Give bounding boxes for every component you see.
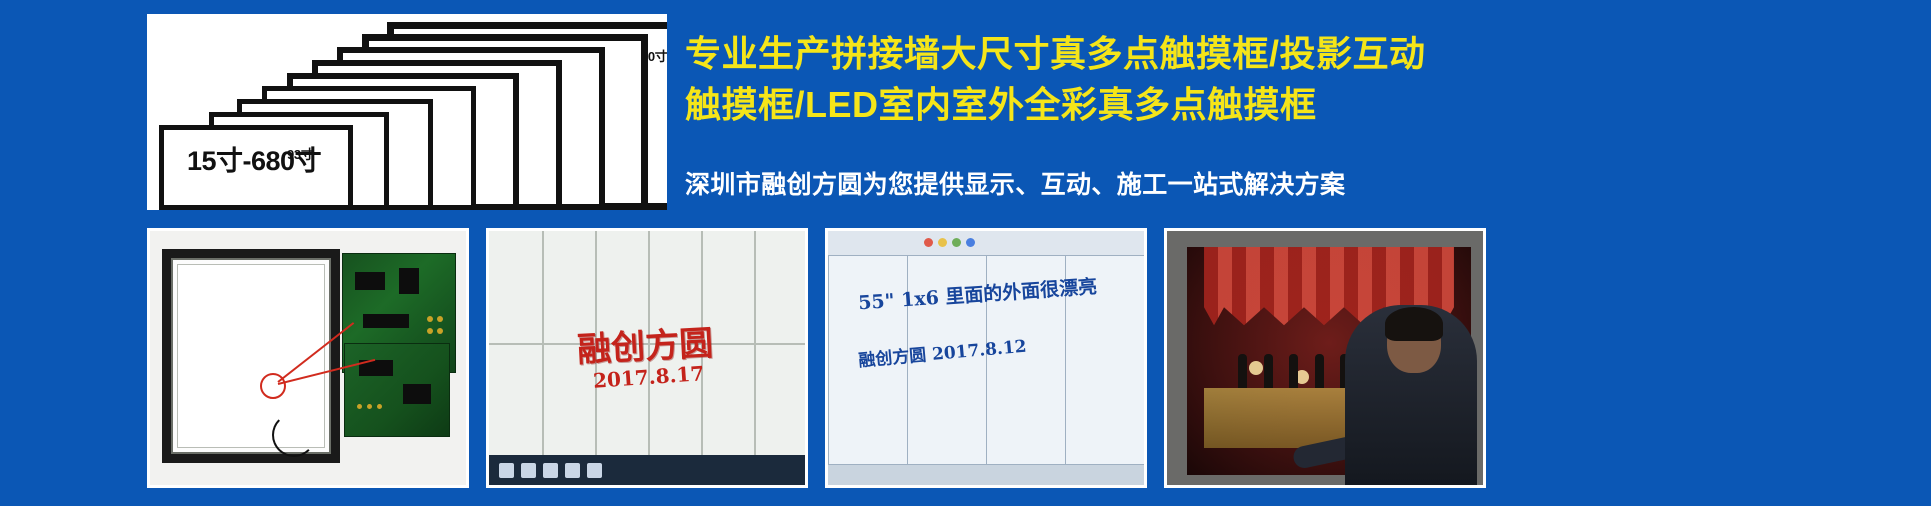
pcb-solder-pad [357,404,362,409]
pcb-solder-pad [427,316,433,322]
stage-figure [1264,354,1273,388]
screen-stack: 680寸 575寸 305寸 221寸 185寸 153寸 129寸 110寸 … [147,14,667,210]
headline-line-2: 触摸框/LED室内室外全彩真多点触摸框 [685,79,1885,130]
taskbar-icon [521,463,536,478]
pcb-chip [403,384,431,404]
photo-lcd-wall-blue-writing: 55" 1x6 里面的外面很漂亮 融创方圆 2017.8.12 [825,228,1147,488]
size-range-label: 15寸-680寸 [187,139,321,178]
size-comparison-chart: 680寸 575寸 305寸 221寸 185寸 153寸 129寸 110寸 … [147,14,667,210]
toolbar-dot-green [952,238,961,247]
taskbar-icon [499,463,514,478]
photo-strip: 融创方圆 2017.8.17 55" 1x6 里面的外面 [147,228,1867,488]
pcb-solder-pad [427,328,433,334]
pcb-solder-pad [367,404,372,409]
marketing-copy: 专业生产拼接墙大尺寸真多点触摸框/投影互动 触摸框/LED室内室外全彩真多点触摸… [685,28,1885,202]
pcb-solder-pad [437,328,443,334]
subheadline: 深圳市融创方圆为您提供显示、互动、施工一站式解决方案 [685,168,1885,202]
photo-video-wall-handwriting: 融创方圆 2017.8.17 [486,228,808,488]
taskbar [489,455,805,485]
taskbar-icon [543,463,558,478]
stage-figure [1238,354,1247,388]
app-toolbar [828,231,1144,256]
photo-touch-frame-and-pcb [147,228,469,488]
toolbar-dot-red [924,238,933,247]
pcb-board-bottom [344,343,450,437]
toolbar-dot-blue [966,238,975,247]
stage-figure [1289,354,1298,388]
wall-seam [754,231,756,485]
stage-figure [1315,354,1324,388]
photo-theatre-interactive-screen [1164,228,1486,488]
promo-banner: 680寸 575寸 305寸 221寸 185寸 153寸 129寸 110寸 … [0,0,1931,506]
pcb-solder-pad [377,404,382,409]
taskbar-icon [587,463,602,478]
stage-light [1249,361,1263,375]
taskbar-icon [565,463,580,478]
pcb-chip [363,314,409,328]
person-hair [1385,307,1443,341]
cable-loop [272,413,316,457]
pcb-chip [399,268,419,294]
app-statusbar [828,465,1144,485]
pcb-solder-pad [437,316,443,322]
headline-line-1: 专业生产拼接墙大尺寸真多点触摸框/投影互动 [685,28,1885,79]
toolbar-dot-yellow [938,238,947,247]
wall-seam [542,231,544,485]
pcb-chip [355,272,385,290]
